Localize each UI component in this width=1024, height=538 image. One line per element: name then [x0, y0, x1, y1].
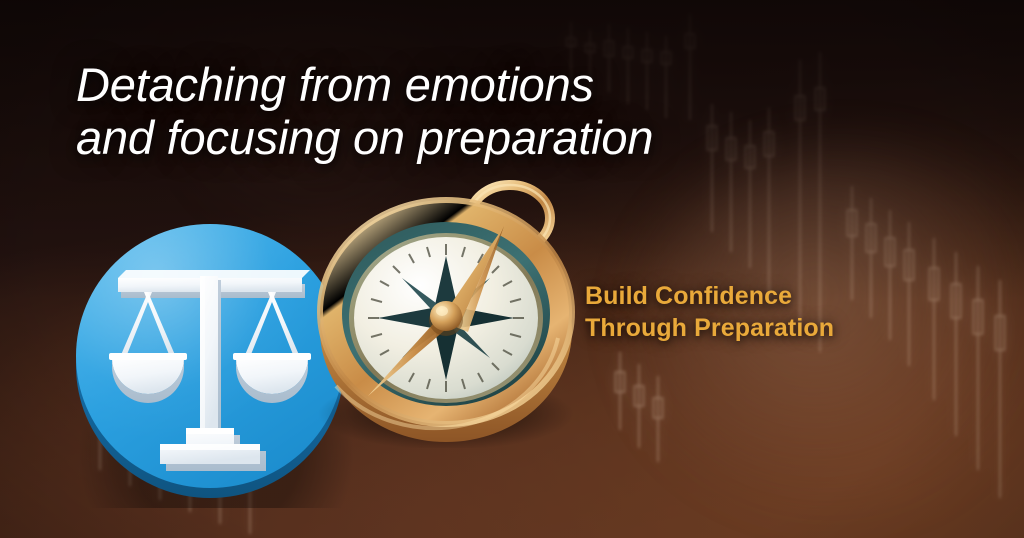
subheadline-text: Build Confidence Through Preparation — [585, 280, 925, 344]
headline-text: Detaching from emotions and focusing on … — [76, 58, 796, 164]
compass-hub — [429, 301, 463, 336]
compass-icon[interactable] — [296, 178, 608, 448]
promo-banner: Detaching from emotions and focusing on … — [0, 0, 1024, 538]
